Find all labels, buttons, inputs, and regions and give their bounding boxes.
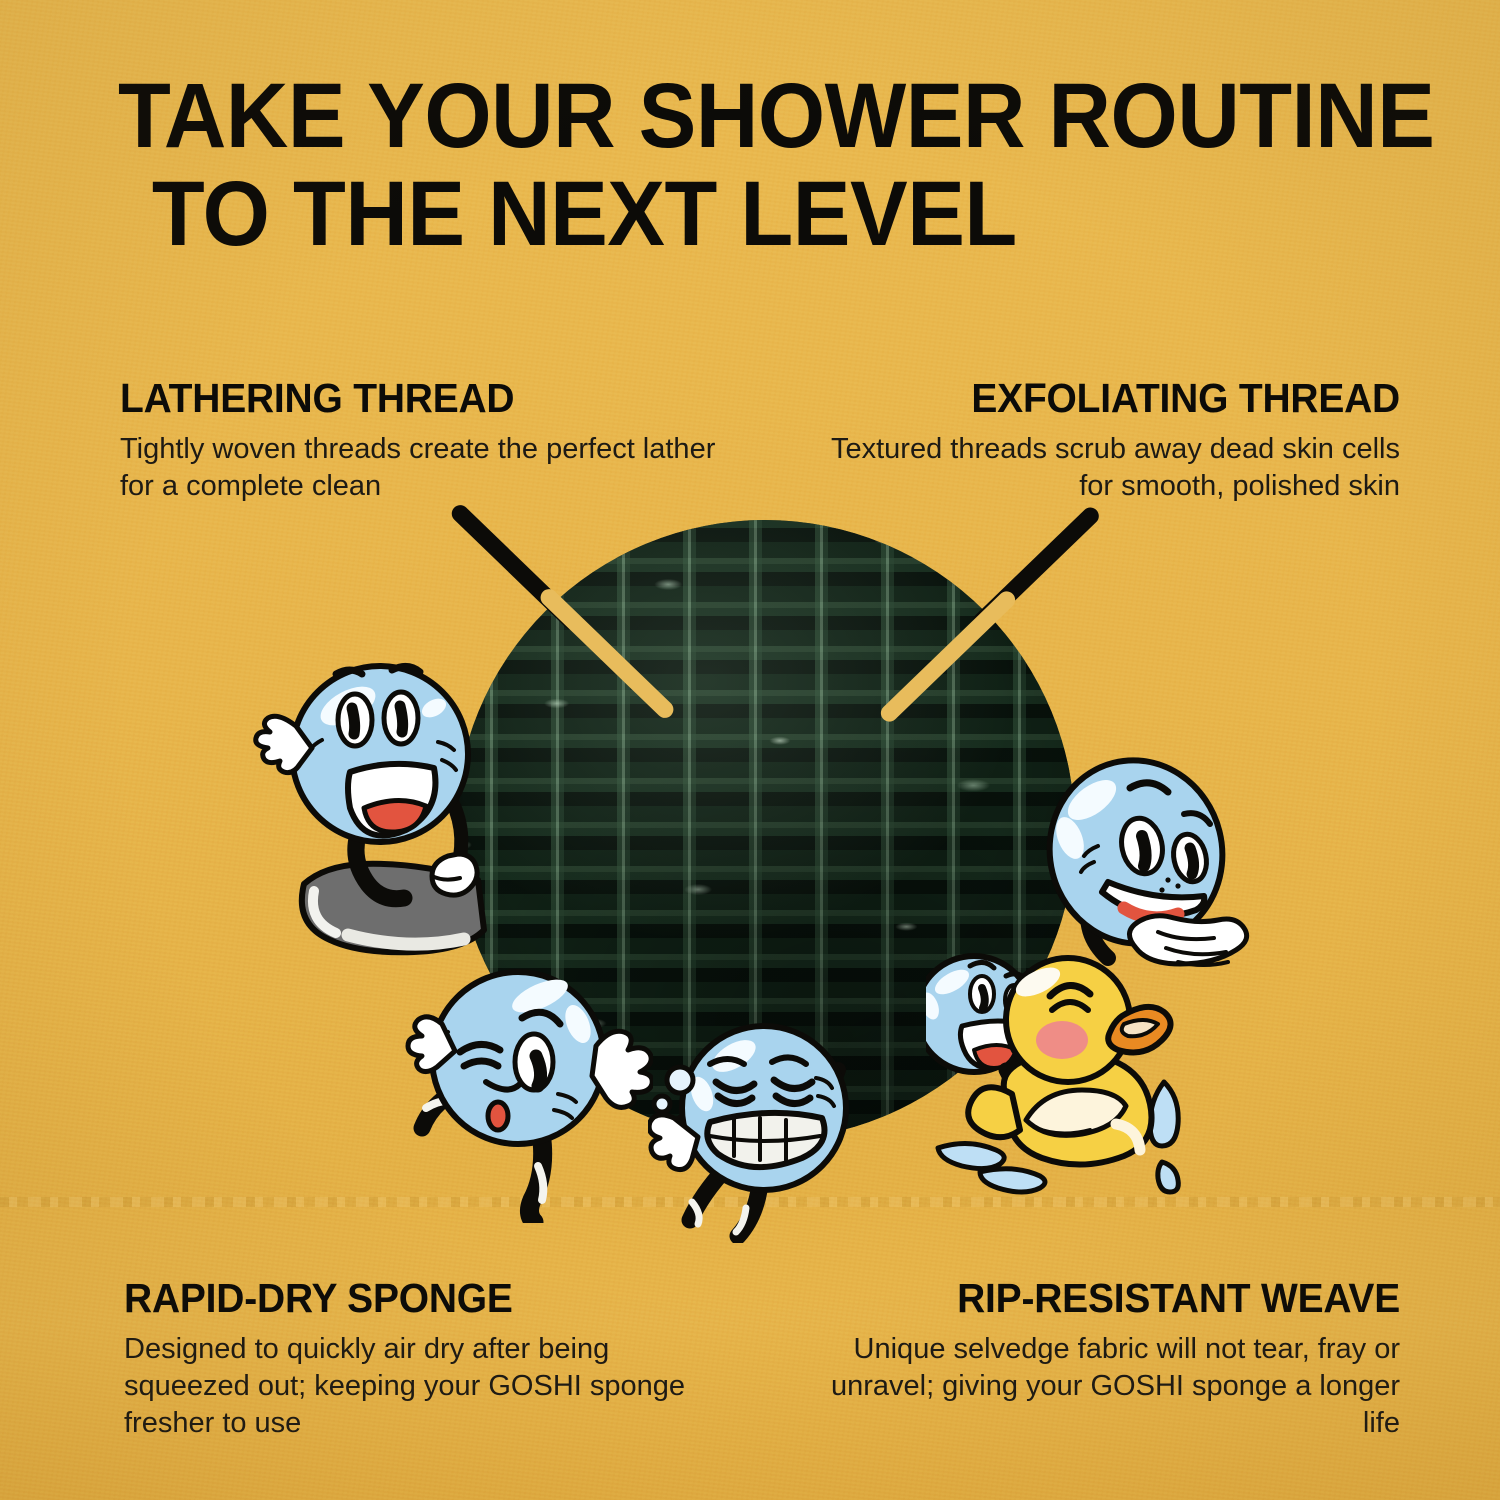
- mascot-surfer: [252, 648, 502, 958]
- feature-exfoliating-thread: EXFOLIATING THREAD Textured threads scru…: [790, 378, 1400, 505]
- duck-tail: [968, 1087, 1020, 1137]
- feature-body: Designed to quickly air dry after being …: [124, 1331, 724, 1441]
- mascot-duck-scene: [926, 952, 1201, 1204]
- feature-body: Tightly woven threads create the perfect…: [120, 431, 720, 505]
- duck-cheek: [1036, 1021, 1088, 1059]
- feature-body: Unique selvedge fabric will not tear, fr…: [790, 1331, 1400, 1441]
- headline-line-1: TAKE YOUR SHOWER ROUTINE: [118, 72, 1312, 160]
- headline-line-2: TO THE NEXT LEVEL: [118, 170, 1312, 258]
- feature-title: RIP-RESISTANT WEAVE: [821, 1278, 1401, 1319]
- feature-body: Textured threads scrub away dead skin ce…: [790, 431, 1400, 505]
- mascot-grinner: [648, 1018, 903, 1243]
- feature-rapid-dry-sponge: RAPID-DRY SPONGE Designed to quickly air…: [124, 1278, 724, 1441]
- product-infographic: TAKE YOUR SHOWER ROUTINE TO THE NEXT LEV…: [0, 0, 1500, 1500]
- duck-head: [1006, 958, 1130, 1082]
- mascot-winker: [398, 958, 653, 1223]
- page-title: TAKE YOUR SHOWER ROUTINE TO THE NEXT LEV…: [118, 72, 1312, 259]
- feature-lathering-thread: LATHERING THREAD Tightly woven threads c…: [120, 378, 720, 505]
- feature-rip-resistant-weave: RIP-RESISTANT WEAVE Unique selvedge fabr…: [790, 1278, 1400, 1441]
- feature-title: EXFOLIATING THREAD: [821, 378, 1401, 419]
- feature-title: RAPID-DRY SPONGE: [124, 1278, 694, 1319]
- feature-title: LATHERING THREAD: [120, 378, 690, 419]
